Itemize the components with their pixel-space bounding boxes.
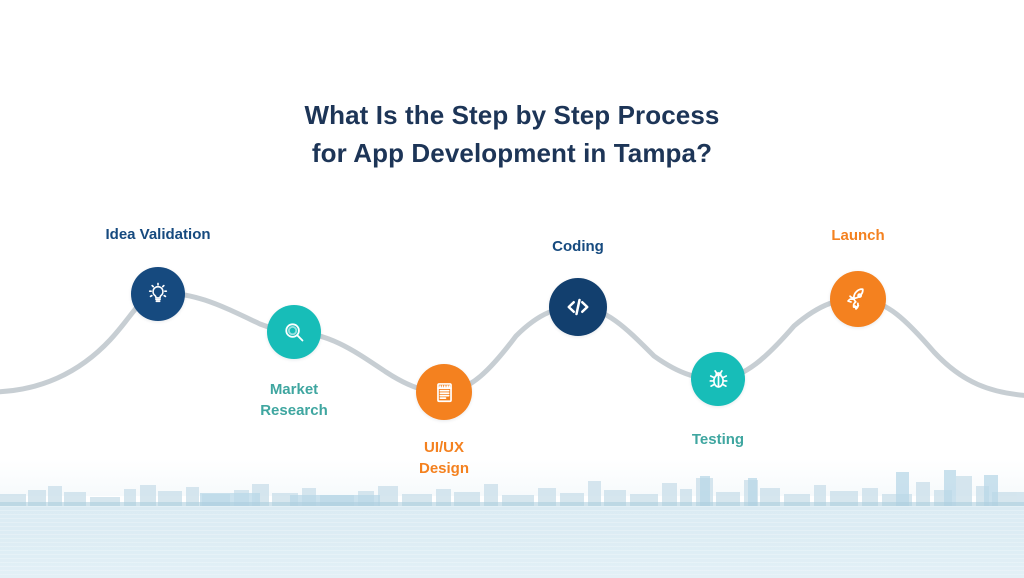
coding-label: Coding	[503, 237, 653, 258]
launch-node[interactable]	[830, 271, 886, 327]
rocket-icon	[844, 285, 872, 313]
infographic-canvas: What Is the Step by Step Process for App…	[0, 0, 1024, 578]
market-research-label: Market Research	[219, 380, 369, 421]
wireframe-icon	[431, 379, 458, 406]
testing-label: Testing	[643, 430, 793, 451]
idea-validation-label: Idea Validation	[58, 225, 258, 246]
bug-icon	[705, 366, 732, 393]
lightbulb-icon	[145, 281, 171, 307]
coding-node[interactable]	[549, 278, 607, 336]
magnifier-icon	[281, 319, 308, 346]
ui-ux-design-label: UI/UX Design	[369, 438, 519, 479]
launch-label: Launch	[783, 226, 933, 247]
ui-ux-design-node[interactable]	[416, 364, 472, 420]
market-research-node[interactable]	[267, 305, 321, 359]
idea-validation-node[interactable]	[131, 267, 185, 321]
testing-node[interactable]	[691, 352, 745, 406]
code-brackets-icon	[563, 292, 593, 322]
